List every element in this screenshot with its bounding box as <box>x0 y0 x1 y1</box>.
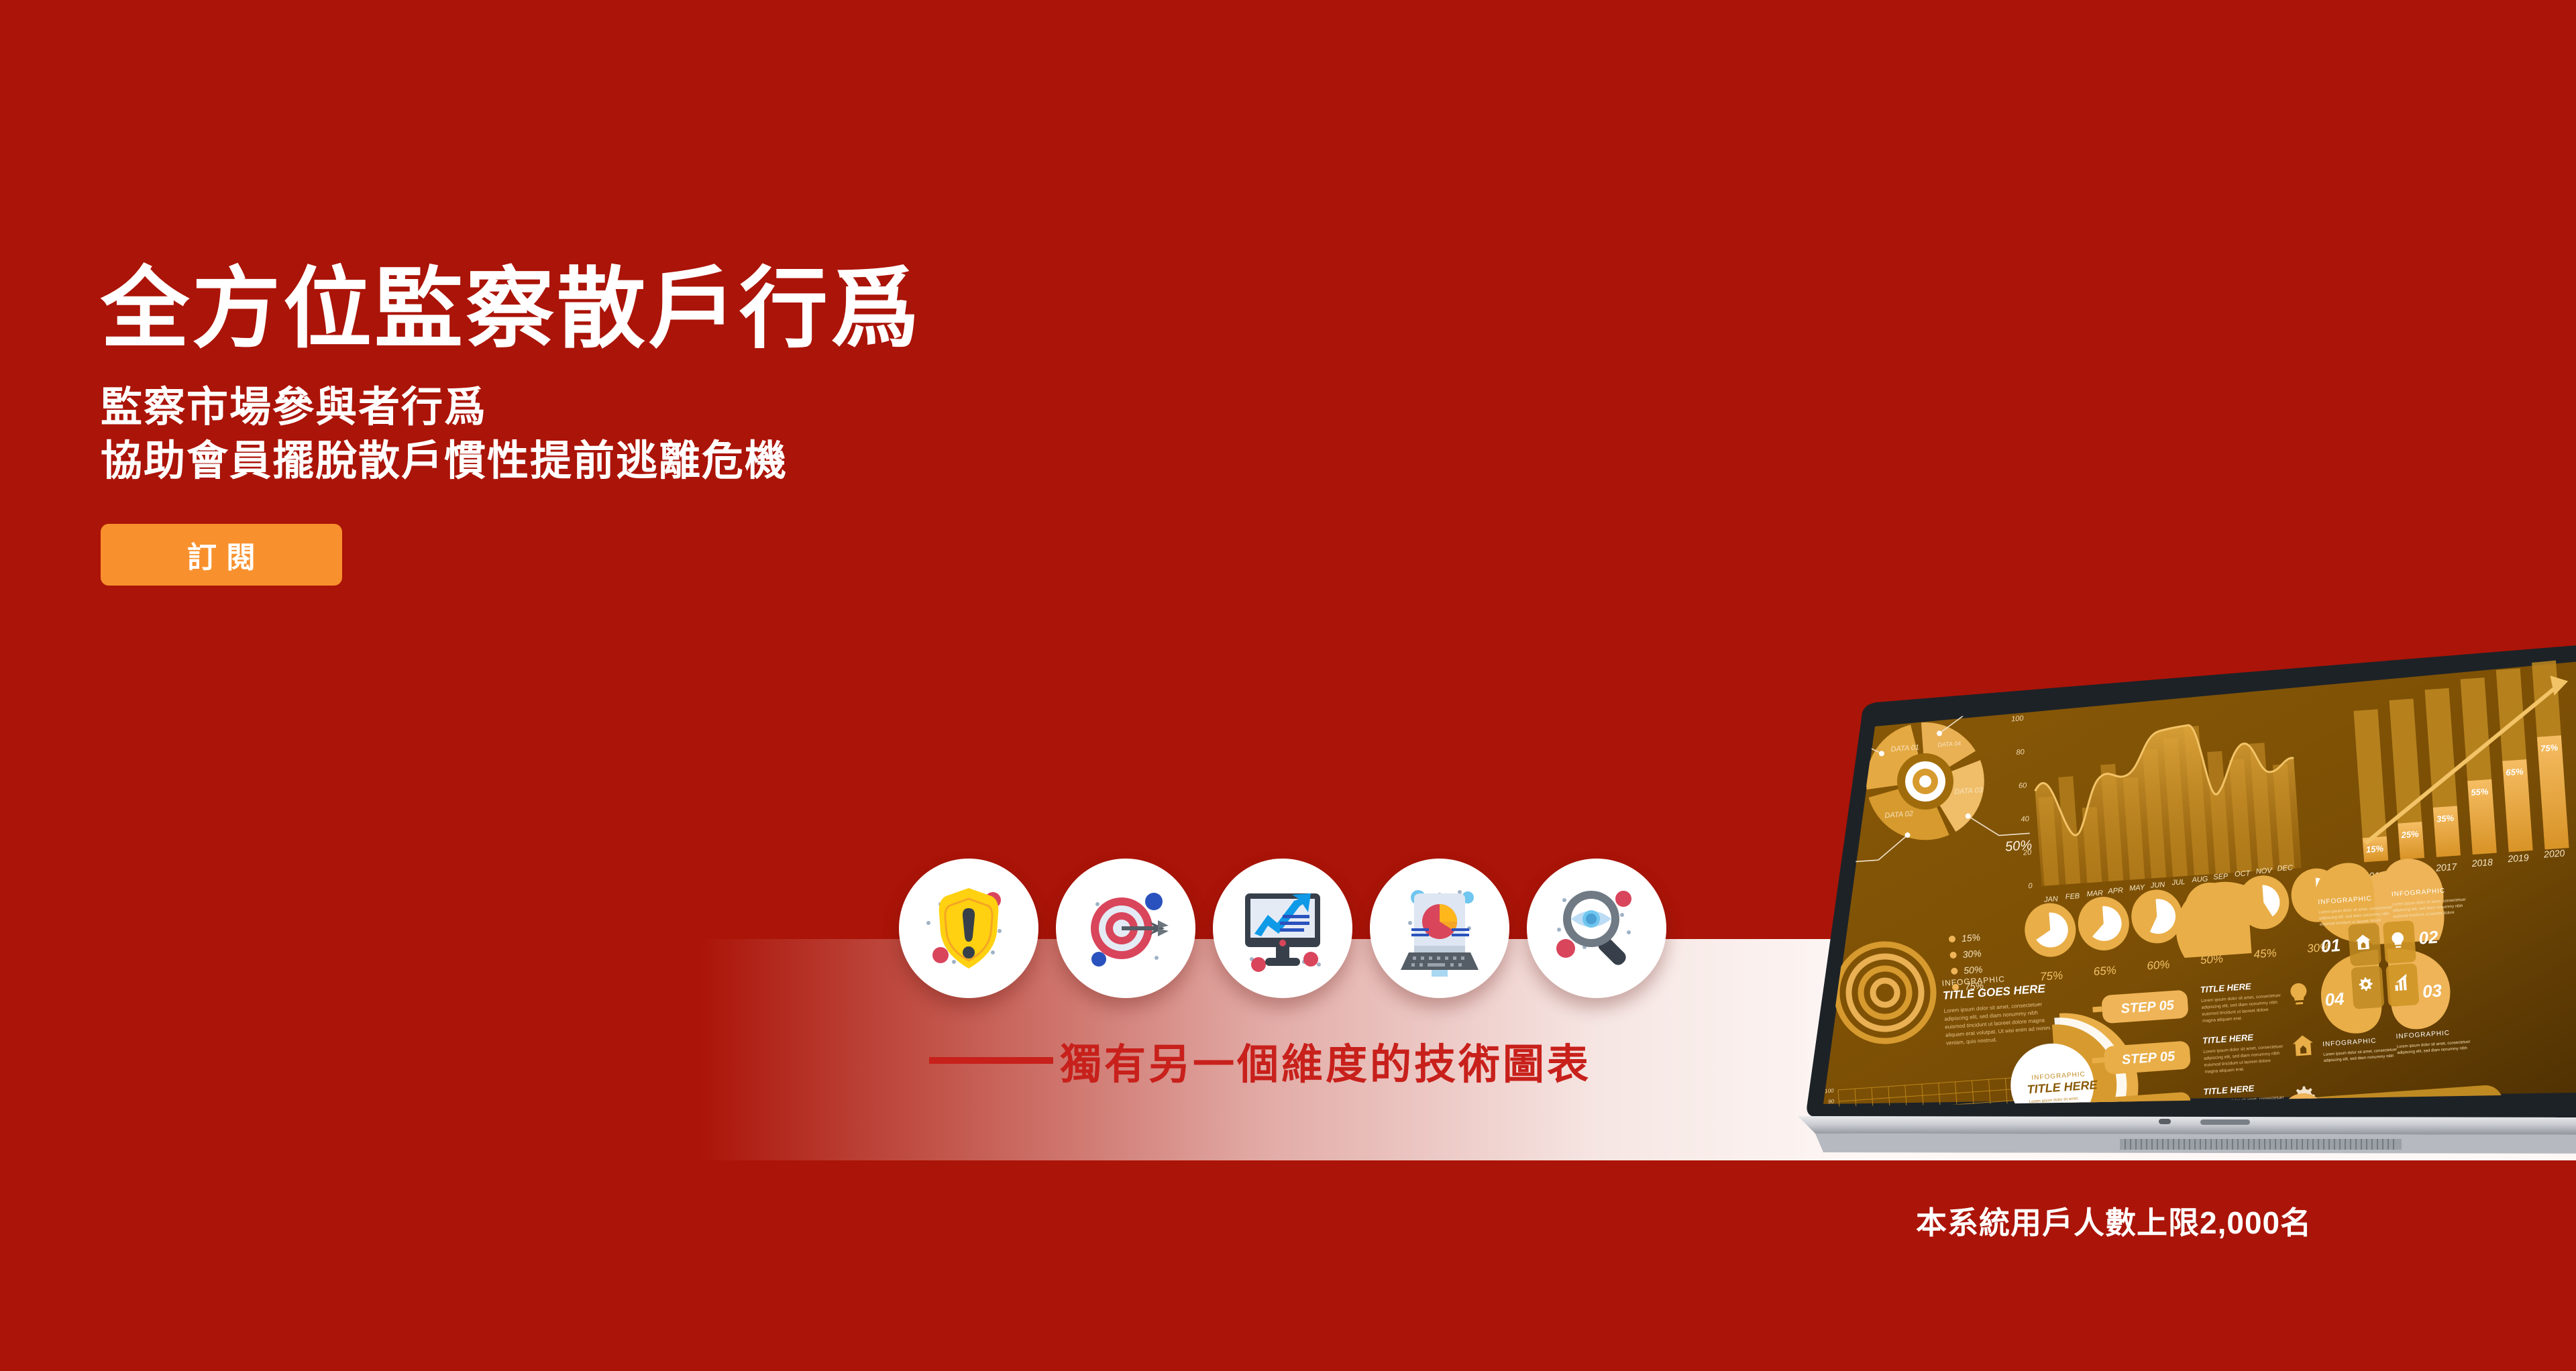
svg-text:AUG: AUG <box>2191 875 2208 885</box>
svg-text:80: 80 <box>2016 748 2025 757</box>
hero-subtitle-line-1: 監察市場參與者行爲 <box>101 381 922 435</box>
svg-text:01: 01 <box>2320 935 2341 956</box>
laptop-piechart-icon <box>1401 890 1479 977</box>
feature-icon-laptop-piechart[interactable] <box>1370 859 1509 998</box>
svg-text:OCT: OCT <box>2235 869 2251 879</box>
tagline-dash <box>929 1057 1053 1064</box>
svg-text:30%: 30% <box>1779 728 1807 745</box>
user-limit-footnote: 本系統用戶人數上限2,000名 <box>1916 1199 2312 1243</box>
magnifier-eye-icon <box>1556 891 1631 968</box>
svg-text:75%: 75% <box>2540 743 2559 754</box>
svg-text:SEP: SEP <box>2213 873 2229 882</box>
svg-text:03: 03 <box>2422 980 2443 1001</box>
hero-content: 全方位監察散戶行爲 監察市場參與者行爲 協助會員擺脫散戶慣性提前逃離危機 訂閱 <box>101 265 922 586</box>
laptop-base-top <box>1798 1116 2576 1135</box>
feature-icon-target-arrow[interactable] <box>1056 859 1195 998</box>
svg-text:35%: 35% <box>2436 813 2455 824</box>
hero-banner: 全方位監察散戶行爲 監察市場參與者行爲 協助會員擺脫散戶慣性提前逃離危機 訂閱 <box>0 0 2576 1371</box>
svg-text:APR: APR <box>2107 887 2123 896</box>
target-arrow-icon <box>1091 893 1169 967</box>
svg-text:65%: 65% <box>2506 766 2524 777</box>
shield-alert-icon <box>926 888 1002 969</box>
svg-text:55%: 55% <box>2471 786 2489 798</box>
laptop-port <box>2200 1119 2250 1125</box>
svg-text:20: 20 <box>2023 848 2033 857</box>
svg-text:30%: 30% <box>1962 948 1982 960</box>
laptop-camera-notch <box>2159 1119 2171 1124</box>
page-title: 全方位監察散戶行爲 <box>101 265 922 355</box>
svg-text:JAN: JAN <box>2043 895 2059 903</box>
feature-icon-magnifier-eye[interactable] <box>1527 859 1666 998</box>
svg-text:JUN: JUN <box>2150 881 2165 890</box>
hero-subtitle-line-2: 協助會員擺脫散戶慣性提前逃離危機 <box>101 435 922 489</box>
hero-subtitle: 監察市場參與者行爲 協助會員擺脫散戶慣性提前逃離危機 <box>101 381 922 489</box>
svg-text:04: 04 <box>2324 989 2345 1010</box>
svg-text:JUL: JUL <box>2171 878 2185 887</box>
tagline-text: 獨有另一個維度的技術圖表 <box>1060 1030 1591 1091</box>
timeline-blocks: 01 DATA 2017 Lorem ipsum dolor sitamet, … <box>1797 1160 1998 1174</box>
svg-text:diam nonummy nibh euismod tinc: diam nonummy nibh euismod tincidunt ut l… <box>2355 1155 2446 1165</box>
svg-text:50%: 50% <box>2302 1155 2324 1168</box>
svg-text:45%: 45% <box>2253 946 2277 961</box>
svg-text:NOV: NOV <box>2255 867 2273 876</box>
svg-text:65%: 65% <box>2093 964 2116 978</box>
svg-text:40: 40 <box>2021 815 2030 824</box>
svg-text:FEB: FEB <box>2065 892 2080 901</box>
svg-text:100: 100 <box>1825 1087 1834 1094</box>
tagline: 獨有另一個維度的技術圖表 <box>929 1030 1591 1091</box>
feature-icon-shield-alert[interactable] <box>899 859 1038 998</box>
laptop-vent <box>2120 1139 2402 1150</box>
monitor-growth-icon <box>1245 893 1321 972</box>
svg-text:02: 02 <box>2418 927 2438 948</box>
subscribe-button[interactable]: 訂閱 <box>101 524 342 586</box>
svg-text:75%: 75% <box>2039 969 2063 983</box>
svg-text:40: 40 <box>1832 1155 1839 1162</box>
svg-text:2018: 2018 <box>2471 857 2493 869</box>
svg-text:2020: 2020 <box>2543 847 2565 859</box>
svg-text:15%: 15% <box>1961 932 1980 944</box>
svg-text:50%: 50% <box>1964 964 1983 976</box>
svg-text:DEC: DEC <box>2277 864 2293 873</box>
svg-text:60: 60 <box>2019 781 2028 790</box>
svg-text:25%: 25% <box>2400 829 2419 840</box>
svg-text:60%: 60% <box>2147 958 2170 972</box>
svg-text:45%: 45% <box>1784 861 1812 878</box>
svg-text:90: 90 <box>1828 1098 1835 1105</box>
svg-text:MAY: MAY <box>2129 883 2145 893</box>
svg-text:2017: 2017 <box>2435 861 2458 873</box>
svg-text:15%: 15% <box>2365 843 2383 855</box>
svg-text:2019: 2019 <box>2507 852 2529 864</box>
svg-text:30: 30 <box>1833 1166 1839 1173</box>
svg-text:100: 100 <box>2011 714 2025 723</box>
laptop-dashboard-illustration: DATA 01 DATA 04 DATA 03 DATA 02 15% 30% <box>1758 637 2576 1174</box>
svg-text:04: 04 <box>1963 1172 1975 1174</box>
feature-icon-row <box>899 859 1666 998</box>
svg-text:magna aliquam erat volutpat.: magna aliquam erat volutpat. <box>2355 1164 2404 1171</box>
feature-icon-monitor-growth[interactable] <box>1213 859 1352 998</box>
